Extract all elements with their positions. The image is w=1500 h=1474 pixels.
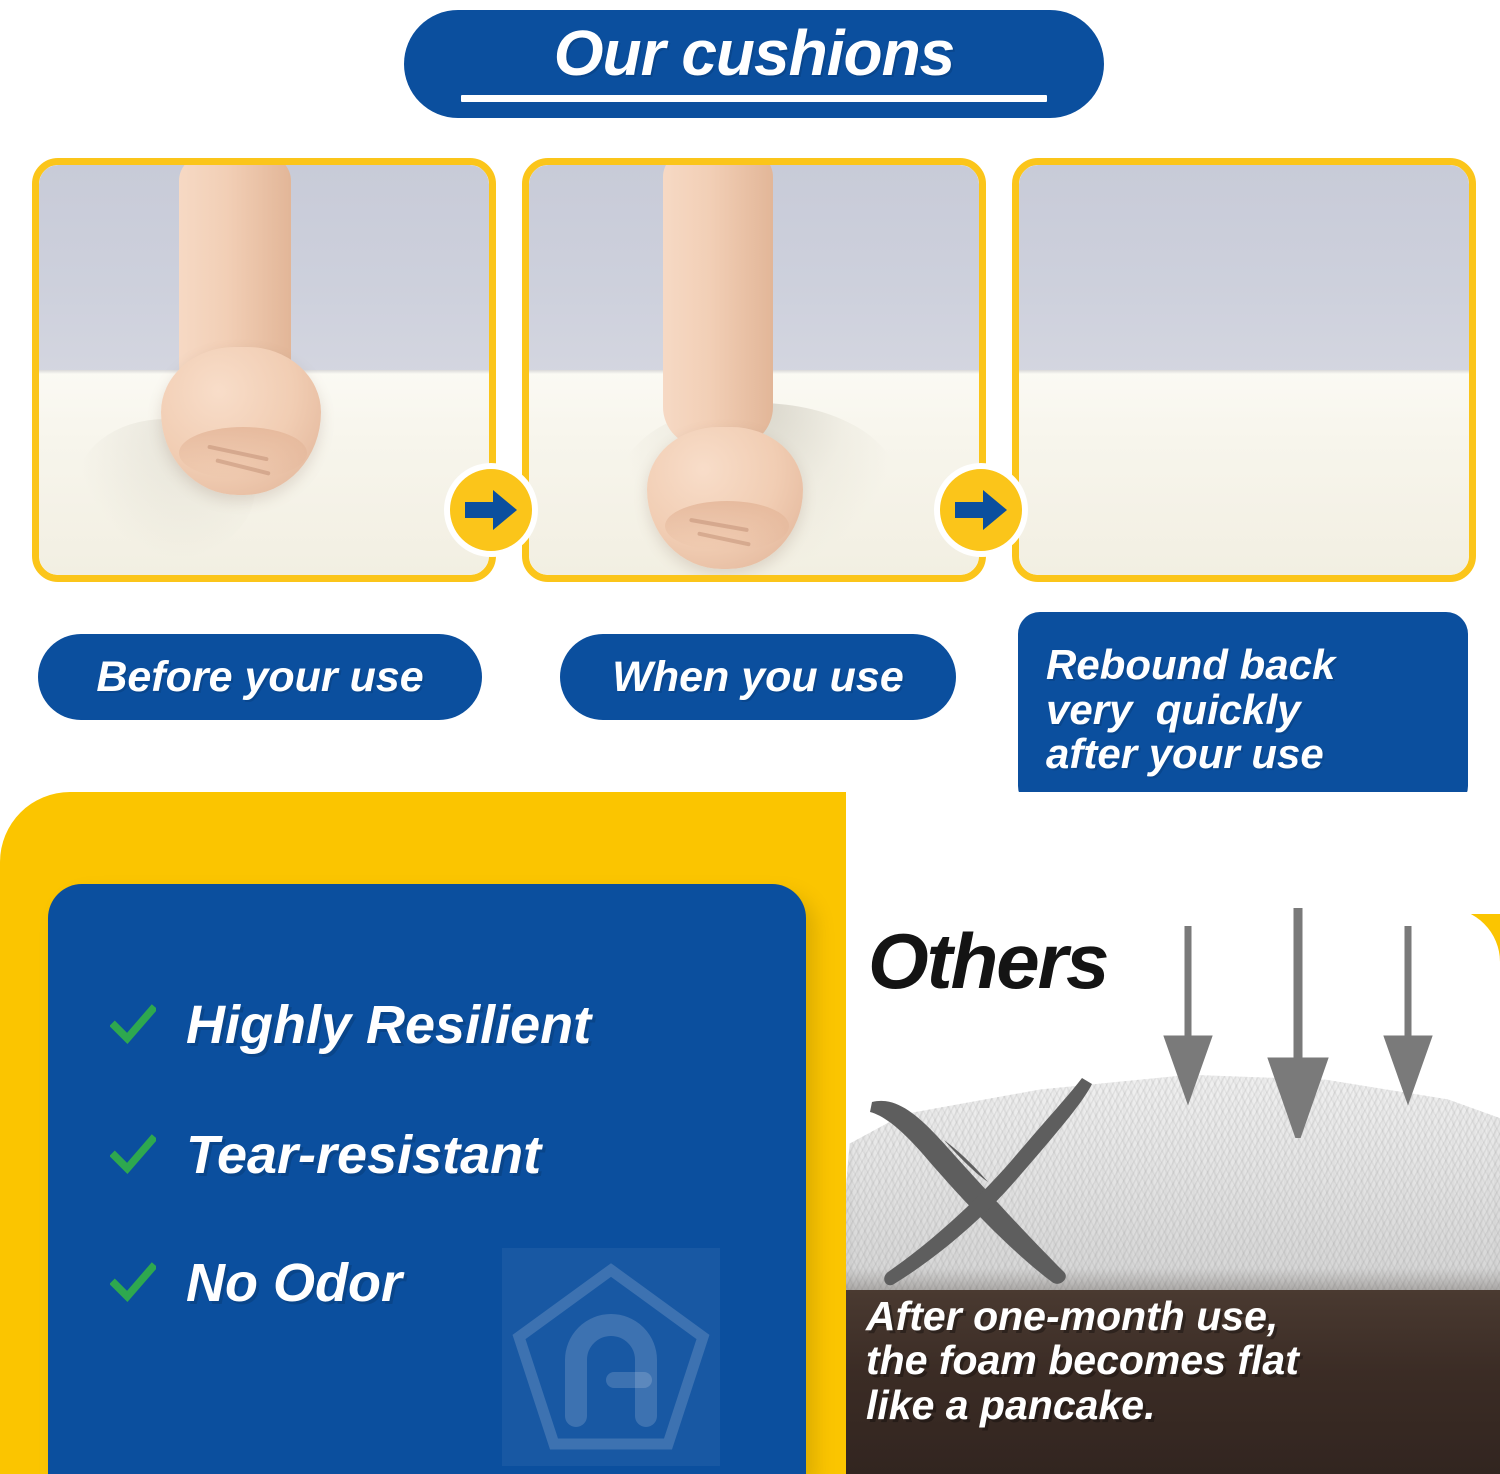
x-brush-mark-icon [856,1056,1156,1306]
caption-when-in-use-label: When you use [612,653,903,702]
step-arrow-2-icon [934,463,1028,557]
demo-photo-before-use [32,158,496,582]
others-title: Others [868,922,1107,1000]
others-caption-line-1: After one-month use, [866,1294,1486,1338]
feature-label: No Odor [186,1256,402,1310]
check-mark-icon [110,1002,156,1048]
demo-photo-when-in-use [522,158,986,582]
infographic-canvas: Our cushions [0,0,1500,1474]
feature-row-no-odor: No Odor [110,1256,402,1310]
feature-label: Tear-resistant [186,1128,541,1182]
feature-label: Highly Resilient [186,998,591,1052]
caption-after-use: Rebound back very quickly after your use [1018,612,1468,808]
others-comparison-panel: Others After one-month use [846,908,1500,1474]
others-panel-notch [846,792,1500,914]
demo-photo-after-use [1012,158,1476,582]
our-features-card: Highly Resilient Tear-resistant No Odor [48,884,806,1474]
page-title: Our cushions [554,21,955,85]
caption-after-use-line-3: after your use [1046,732,1324,777]
photo-after-use-image [1019,165,1469,575]
photo-when-in-use-image [529,165,979,575]
foam-slab [1019,370,1469,575]
caption-before-use: Before your use [38,634,482,720]
pressure-arrows-icon [1146,908,1486,1138]
caption-before-use-label: Before your use [96,653,423,702]
photo-before-use-image [39,165,489,575]
others-caption: After one-month use, the foam becomes fl… [866,1294,1486,1427]
caption-after-use-line-1: Rebound back [1046,643,1335,688]
check-mark-icon [110,1260,156,1306]
forearm [663,165,773,447]
photo-backdrop [1019,165,1469,378]
demo-sequence-row [0,158,1500,586]
caption-after-use-line-2: very quickly [1046,688,1300,733]
feature-row-tear-resistant: Tear-resistant [110,1128,541,1182]
others-caption-line-2: the foam becomes flat [866,1338,1486,1382]
check-mark-icon [110,1132,156,1178]
step-arrow-1-icon [444,463,538,557]
foam-front-edge [1019,370,1469,374]
caption-when-in-use: When you use [560,634,956,720]
title-underline [461,95,1047,102]
others-caption-line-3: like a pancake. [866,1383,1486,1427]
feature-row-highly-resilient: Highly Resilient [110,998,591,1052]
page-title-banner: Our cushions [404,10,1104,118]
